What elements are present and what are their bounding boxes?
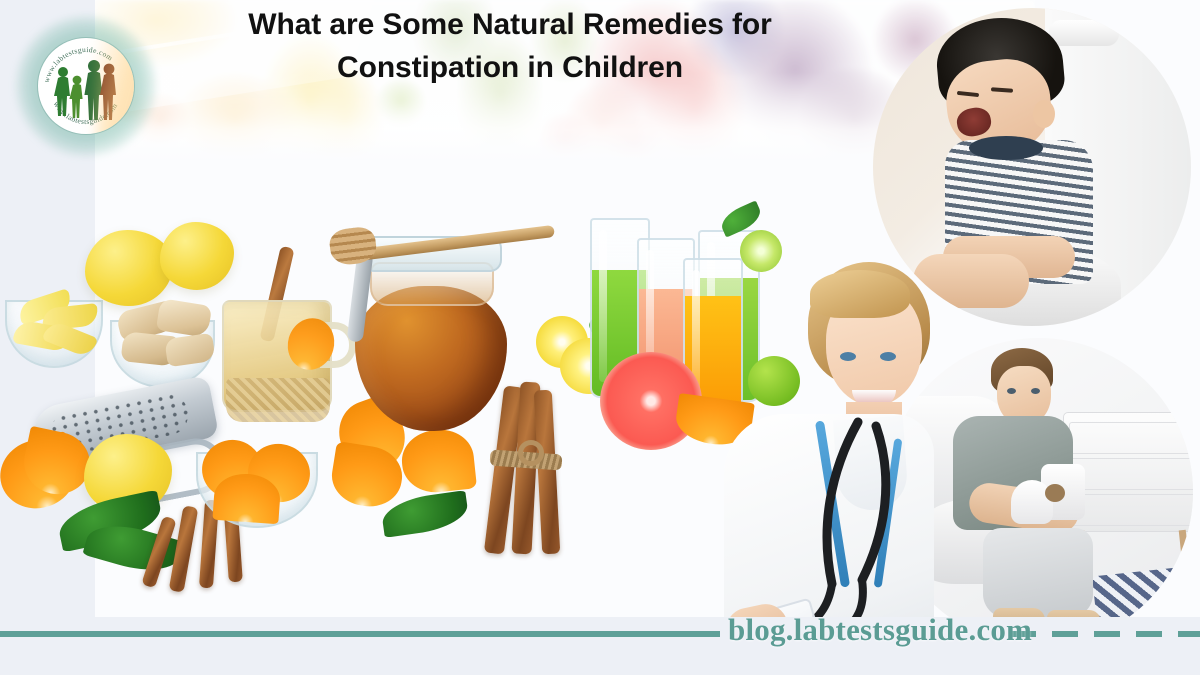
toilet-paper-roll-core — [1045, 484, 1065, 502]
footer-rule-left — [0, 631, 720, 637]
toilet-paper-roll-holder — [1049, 20, 1119, 46]
logo-disc: www.labtestsguide.com www.labtestsguide.… — [38, 38, 134, 134]
site-logo[interactable]: www.labtestsguide.com www.labtestsguide.… — [26, 26, 146, 146]
doctor-eye-left — [840, 352, 856, 361]
poster-stage: What are Some Natural Remedies for Const… — [0, 0, 1200, 675]
child-shirt-collar — [969, 136, 1043, 160]
doctor-hair-front — [810, 270, 910, 318]
dresser-drawer-3 — [1069, 494, 1193, 526]
page-title: What are Some Natural Remedies for Const… — [150, 4, 870, 89]
cinnamon-bundle-twine-knot — [518, 440, 544, 466]
doctor-eye-right — [880, 352, 896, 361]
mug-woven-basket — [226, 378, 330, 422]
family-silhouette-icon — [52, 58, 120, 120]
smiling-doctor-photo — [700, 262, 950, 662]
footer-rule-right — [1010, 631, 1200, 637]
green-glass-shine — [599, 230, 607, 382]
child2-pants — [983, 528, 1093, 618]
page-title-line-2: Constipation in Children — [150, 47, 870, 90]
page-title-line-1: What are Some Natural Remedies for — [150, 4, 870, 47]
dresser-drawer-2 — [1069, 458, 1193, 490]
dresser-drawer-1 — [1069, 422, 1193, 454]
child-ear — [1033, 100, 1055, 128]
child2-eye-right — [1031, 388, 1040, 394]
footer-site-url[interactable]: blog.labtestsguide.com — [728, 612, 1032, 648]
child2-eye-left — [1007, 388, 1016, 394]
